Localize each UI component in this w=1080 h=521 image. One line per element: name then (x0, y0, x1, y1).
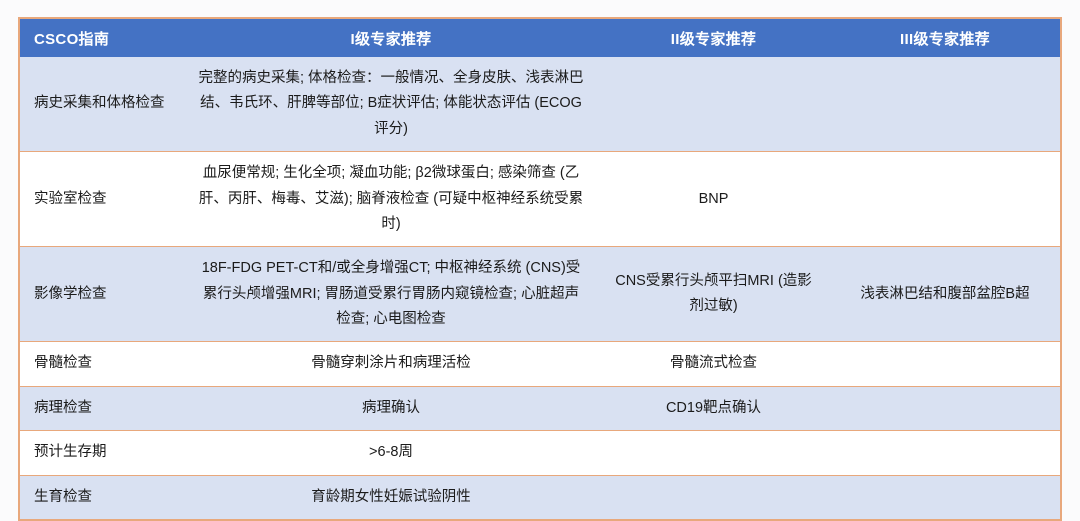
row-item-label: 实验室检查 (20, 152, 185, 247)
table-header: CSCO指南 I级专家推荐 II级专家推荐 III级专家推荐 (20, 19, 1060, 57)
row-level-1-recommendation: 完整的病史采集; 体格检查：一般情况、全身皮肤、浅表淋巴结、韦氏环、肝脾等部位;… (185, 57, 597, 152)
row-level-2-recommendation: BNP (597, 152, 830, 247)
row-level-2-recommendation: 骨髓流式检查 (597, 342, 830, 386)
row-level-3-recommendation (830, 431, 1060, 475)
table-row: 预计生存期 >6-8周 (20, 431, 1060, 475)
row-level-1-recommendation: 骨髓穿刺涂片和病理活检 (185, 342, 597, 386)
csco-guideline-table-container: CSCO指南 I级专家推荐 II级专家推荐 III级专家推荐 病史采集和体格检查… (18, 17, 1062, 521)
row-level-2-recommendation (597, 431, 830, 475)
table-row: 病史采集和体格检查 完整的病史采集; 体格检查：一般情况、全身皮肤、浅表淋巴结、… (20, 57, 1060, 152)
table-body: 病史采集和体格检查 完整的病史采集; 体格检查：一般情况、全身皮肤、浅表淋巴结、… (20, 57, 1060, 519)
row-level-1-recommendation: 病理确认 (185, 386, 597, 430)
column-header-level-1: I级专家推荐 (185, 19, 597, 57)
header-row: CSCO指南 I级专家推荐 II级专家推荐 III级专家推荐 (20, 19, 1060, 57)
row-level-2-recommendation: CD19靶点确认 (597, 386, 830, 430)
row-level-3-recommendation (830, 386, 1060, 430)
table-row: 骨髓检查 骨髓穿刺涂片和病理活检 骨髓流式检查 (20, 342, 1060, 386)
row-level-3-recommendation: 浅表淋巴结和腹部盆腔B超 (830, 247, 1060, 342)
row-item-label: 病史采集和体格检查 (20, 57, 185, 152)
row-level-2-recommendation (597, 57, 830, 152)
row-level-3-recommendation (830, 152, 1060, 247)
row-level-1-recommendation: 18F-FDG PET-CT和/或全身增强CT; 中枢神经系统 (CNS)受累行… (185, 247, 597, 342)
row-item-label: 骨髓检查 (20, 342, 185, 386)
row-level-3-recommendation (830, 342, 1060, 386)
row-level-2-recommendation: CNS受累行头颅平扫MRI (造影剂过敏) (597, 247, 830, 342)
column-header-level-2: II级专家推荐 (597, 19, 830, 57)
csco-guideline-table: CSCO指南 I级专家推荐 II级专家推荐 III级专家推荐 病史采集和体格检查… (20, 19, 1060, 519)
table-row: 影像学检查 18F-FDG PET-CT和/或全身增强CT; 中枢神经系统 (C… (20, 247, 1060, 342)
row-item-label: 影像学检查 (20, 247, 185, 342)
column-header-item: CSCO指南 (20, 19, 185, 57)
column-header-level-3: III级专家推荐 (830, 19, 1060, 57)
row-level-1-recommendation: >6-8周 (185, 431, 597, 475)
table-row: 病理检查 病理确认 CD19靶点确认 (20, 386, 1060, 430)
row-item-label: 预计生存期 (20, 431, 185, 475)
row-level-1-recommendation: 血尿便常规; 生化全项; 凝血功能; β2微球蛋白; 感染筛查 (乙肝、丙肝、梅… (185, 152, 597, 247)
row-item-label: 病理检查 (20, 386, 185, 430)
row-level-3-recommendation (830, 57, 1060, 152)
table-row: 实验室检查 血尿便常规; 生化全项; 凝血功能; β2微球蛋白; 感染筛查 (乙… (20, 152, 1060, 247)
